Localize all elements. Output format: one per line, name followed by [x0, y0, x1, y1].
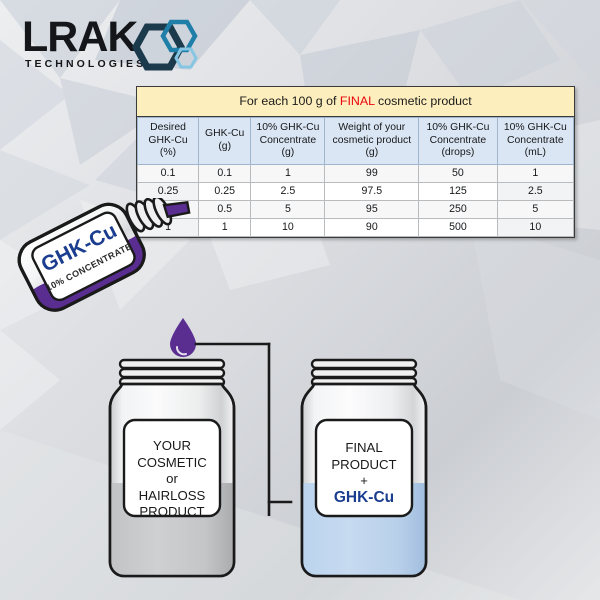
header-line: Desired — [150, 122, 186, 133]
column-header-concentrate-ml: 10% GHK-CuConcentrate(mL) — [497, 118, 573, 165]
table-cell: 90 — [325, 218, 419, 236]
column-header-desired-percent: DesiredGHK-Cu(%) — [138, 118, 199, 165]
table-cell: 500 — [419, 218, 497, 236]
column-header-cosmetic-weight: Weight of yourcosmetic product(g) — [325, 118, 419, 165]
header-line: (g) — [218, 141, 231, 152]
header-line: (g) — [365, 147, 378, 158]
table-cell: 50 — [419, 164, 497, 182]
header-line: cosmetic product — [333, 135, 412, 146]
jar-right-label-line: FINAL — [314, 440, 414, 457]
brand-logo: LRAK TECHNOLOGIES — [22, 14, 212, 76]
table-cell: 95 — [325, 200, 419, 218]
jar-left-label-line: HAIRLOSS — [122, 488, 222, 505]
table-row: 0.10.1199501 — [138, 164, 574, 182]
jar-left-label-line: COSMETIC — [122, 455, 222, 472]
jar-left-label-line: YOUR — [122, 438, 222, 455]
hexagon-large-icon — [136, 27, 181, 67]
header-line: (%) — [160, 147, 176, 158]
table-title: For each 100 g of FINAL cosmetic product — [137, 87, 574, 117]
table-title-suffix: cosmetic product — [375, 94, 472, 108]
column-header-ghkcu-grams: GHK-Cu(g) — [199, 118, 251, 165]
header-line: (drops) — [441, 147, 474, 158]
jar-right-additive: GHK-Cu — [314, 490, 414, 507]
logo-hexagon-cluster — [116, 14, 212, 80]
table-cell: 5 — [251, 200, 325, 218]
header-line: Weight of your — [338, 122, 405, 133]
header-line: Concentrate — [507, 135, 564, 146]
jar-right-plus: + — [314, 473, 414, 490]
table-title-prefix: For each 100 g of — [239, 94, 340, 108]
table-cell: 99 — [325, 164, 419, 182]
column-header-concentrate-drops: 10% GHK-CuConcentrate(drops) — [419, 118, 497, 165]
header-line: Concentrate — [430, 135, 487, 146]
table-cell: 125 — [419, 182, 497, 200]
table-cell: 1 — [497, 164, 573, 182]
table-cell: 97.5 — [325, 182, 419, 200]
infographic-canvas: LRAK TECHNOLOGIES For each 100 g of F — [0, 0, 600, 600]
header-line: GHK-Cu — [148, 135, 187, 146]
table-cell: 10 — [497, 218, 573, 236]
header-line: GHK-Cu — [205, 128, 244, 139]
header-line: Concentrate — [260, 135, 317, 146]
header-line: 10% GHK-Cu — [426, 122, 489, 133]
header-line: (mL) — [525, 147, 546, 158]
jar-right-label: FINALPRODUCT+GHK-Cu — [314, 440, 414, 506]
table-cell: 250 — [419, 200, 497, 218]
table-title-highlight: FINAL — [340, 94, 375, 108]
table-cell: 2.5 — [497, 182, 573, 200]
jar-left-label-line: PRODUCT — [122, 504, 222, 521]
header-line: 10% GHK-Cu — [504, 122, 567, 133]
table-header-row: DesiredGHK-Cu(%) GHK-Cu(g) 10% GHK-CuCon… — [138, 118, 574, 165]
header-line: 10% GHK-Cu — [256, 122, 319, 133]
header-line: (g) — [282, 147, 295, 158]
table-cell: 1 — [251, 164, 325, 182]
jar-right-label-line: PRODUCT — [314, 457, 414, 474]
table-cell: 0.1 — [199, 164, 251, 182]
jar-left-label-line: or — [122, 471, 222, 488]
table-cell: 2.5 — [251, 182, 325, 200]
table-cell: 5 — [497, 200, 573, 218]
table-cell: 0.1 — [138, 164, 199, 182]
jar-left-label: YOURCOSMETICorHAIRLOSSPRODUCT — [122, 438, 222, 521]
table-cell: 10 — [251, 218, 325, 236]
column-header-concentrate-grams: 10% GHK-CuConcentrate(g) — [251, 118, 325, 165]
